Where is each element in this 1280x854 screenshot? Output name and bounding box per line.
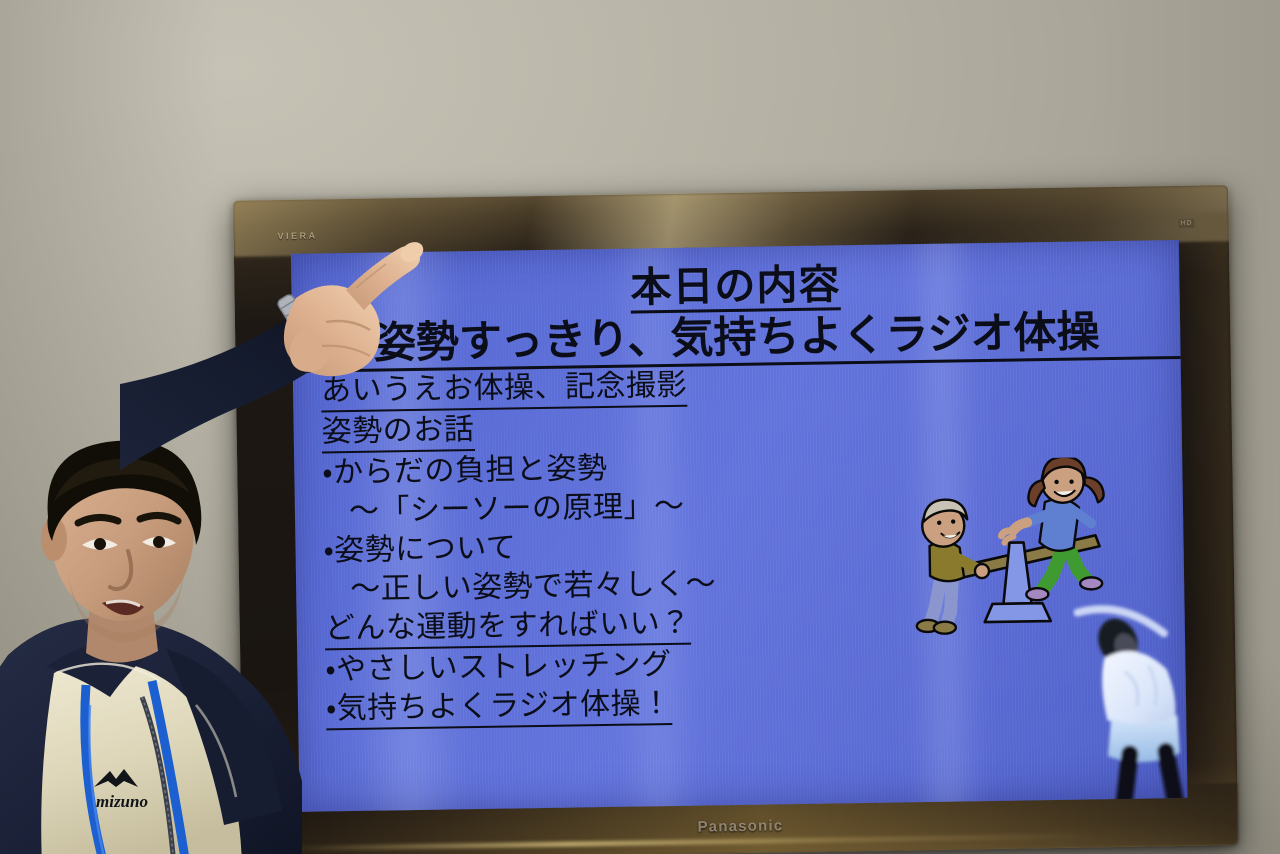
presenter-pointing-arm — [120, 170, 540, 470]
pointing-hand — [284, 238, 427, 376]
hd-badge-icon: HD — [1178, 219, 1194, 228]
panasonic-brand-label: Panasonic — [697, 817, 783, 835]
bezel-gloss-right — [1180, 212, 1238, 820]
photo-scene: VIERA HD Panasonic 本日の内容 姿勢すっきり、気持ちよくラジオ… — [0, 0, 1280, 854]
